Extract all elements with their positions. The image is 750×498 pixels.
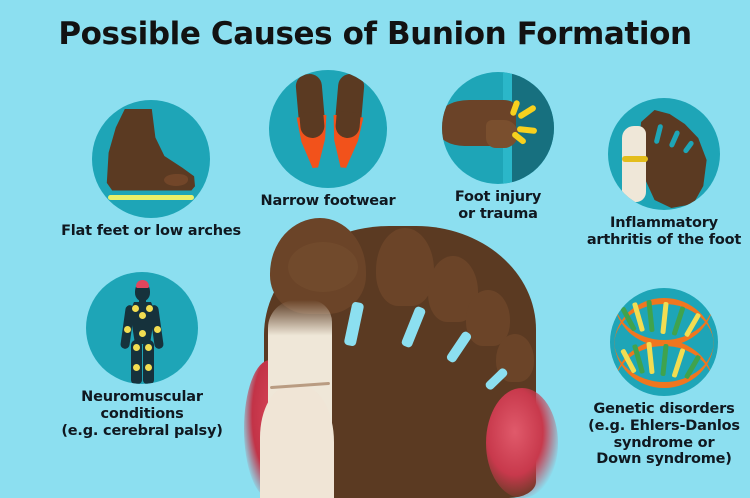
nerve-dot-knee-left: [133, 364, 140, 371]
icon-circle: [610, 288, 718, 396]
toe-bone-shape: [622, 126, 646, 202]
neuromuscular-icon-wrap: [86, 272, 198, 384]
nerve-dot-hip-left: [133, 344, 140, 351]
nerve-dot-chest: [139, 312, 146, 319]
brain-icon: [136, 280, 149, 288]
cause-caption: Foot injury or trauma: [418, 189, 578, 223]
page-title: Possible Causes of Bunion Formation: [0, 16, 750, 52]
cause-inflammatory-arthritis: Inflammatory arthritis of the foot: [578, 98, 750, 249]
toe-highlight-shade: [288, 242, 358, 292]
narrow-footwear-icon-wrap: [269, 70, 387, 188]
cause-neuromuscular: Neuromuscular conditions (e.g. cerebral …: [22, 272, 262, 439]
nerve-dot-shoulder-left: [132, 305, 139, 312]
cause-caption: Inflammatory arthritis of the foot: [578, 215, 750, 249]
dna-double-helix-icon-2: [614, 340, 714, 388]
high-heel-shoe-right-icon: [325, 73, 371, 172]
nerve-dot-elbow-right: [154, 326, 161, 333]
cause-foot-injury: Foot injury or trauma: [418, 72, 578, 223]
cause-caption: Flat feet or low arches: [26, 223, 276, 240]
inflammatory-arthritis-icon-wrap: [608, 98, 720, 210]
genetic-disorders-icon-wrap: [610, 288, 718, 396]
second-toe-shape: [376, 228, 434, 306]
infographic-canvas: Possible Causes of Bunion Formation Flat…: [0, 0, 750, 498]
human-body-nerves-icon: [116, 278, 168, 382]
icon-circle: [269, 70, 387, 188]
nerve-dot-elbow-left: [124, 326, 131, 333]
bunion-foot-illustration: [248, 214, 548, 498]
icon-circle: [608, 98, 720, 210]
foot-injury-icon-wrap: [442, 72, 554, 184]
dna-double-helix-icon: [614, 298, 714, 346]
bunion-bump: [260, 386, 334, 498]
flat-arch-line: [108, 195, 194, 200]
flat-feet-icon-wrap: [92, 100, 210, 218]
inflammation-band: [622, 156, 648, 162]
nerve-dot-shoulder-right: [146, 305, 153, 312]
heel-shade: [164, 174, 188, 186]
nerve-dot-hip-right: [145, 344, 152, 351]
nerve-dot-knee-right: [145, 364, 152, 371]
cause-caption: Narrow footwear: [238, 193, 418, 210]
inflammation-right: [486, 388, 558, 498]
cause-caption: Neuromuscular conditions (e.g. cerebral …: [22, 389, 262, 439]
icon-circle: [92, 100, 210, 218]
cause-caption: Genetic disorders (e.g. Ehlers-Danlos sy…: [578, 401, 750, 468]
cause-genetic-disorders: Genetic disorders (e.g. Ehlers-Danlos sy…: [578, 288, 750, 468]
icon-circle: [86, 272, 198, 384]
cause-narrow-footwear: Narrow footwear: [238, 70, 418, 210]
icon-circle: [442, 72, 554, 184]
nerve-dot-abdomen: [139, 330, 146, 337]
